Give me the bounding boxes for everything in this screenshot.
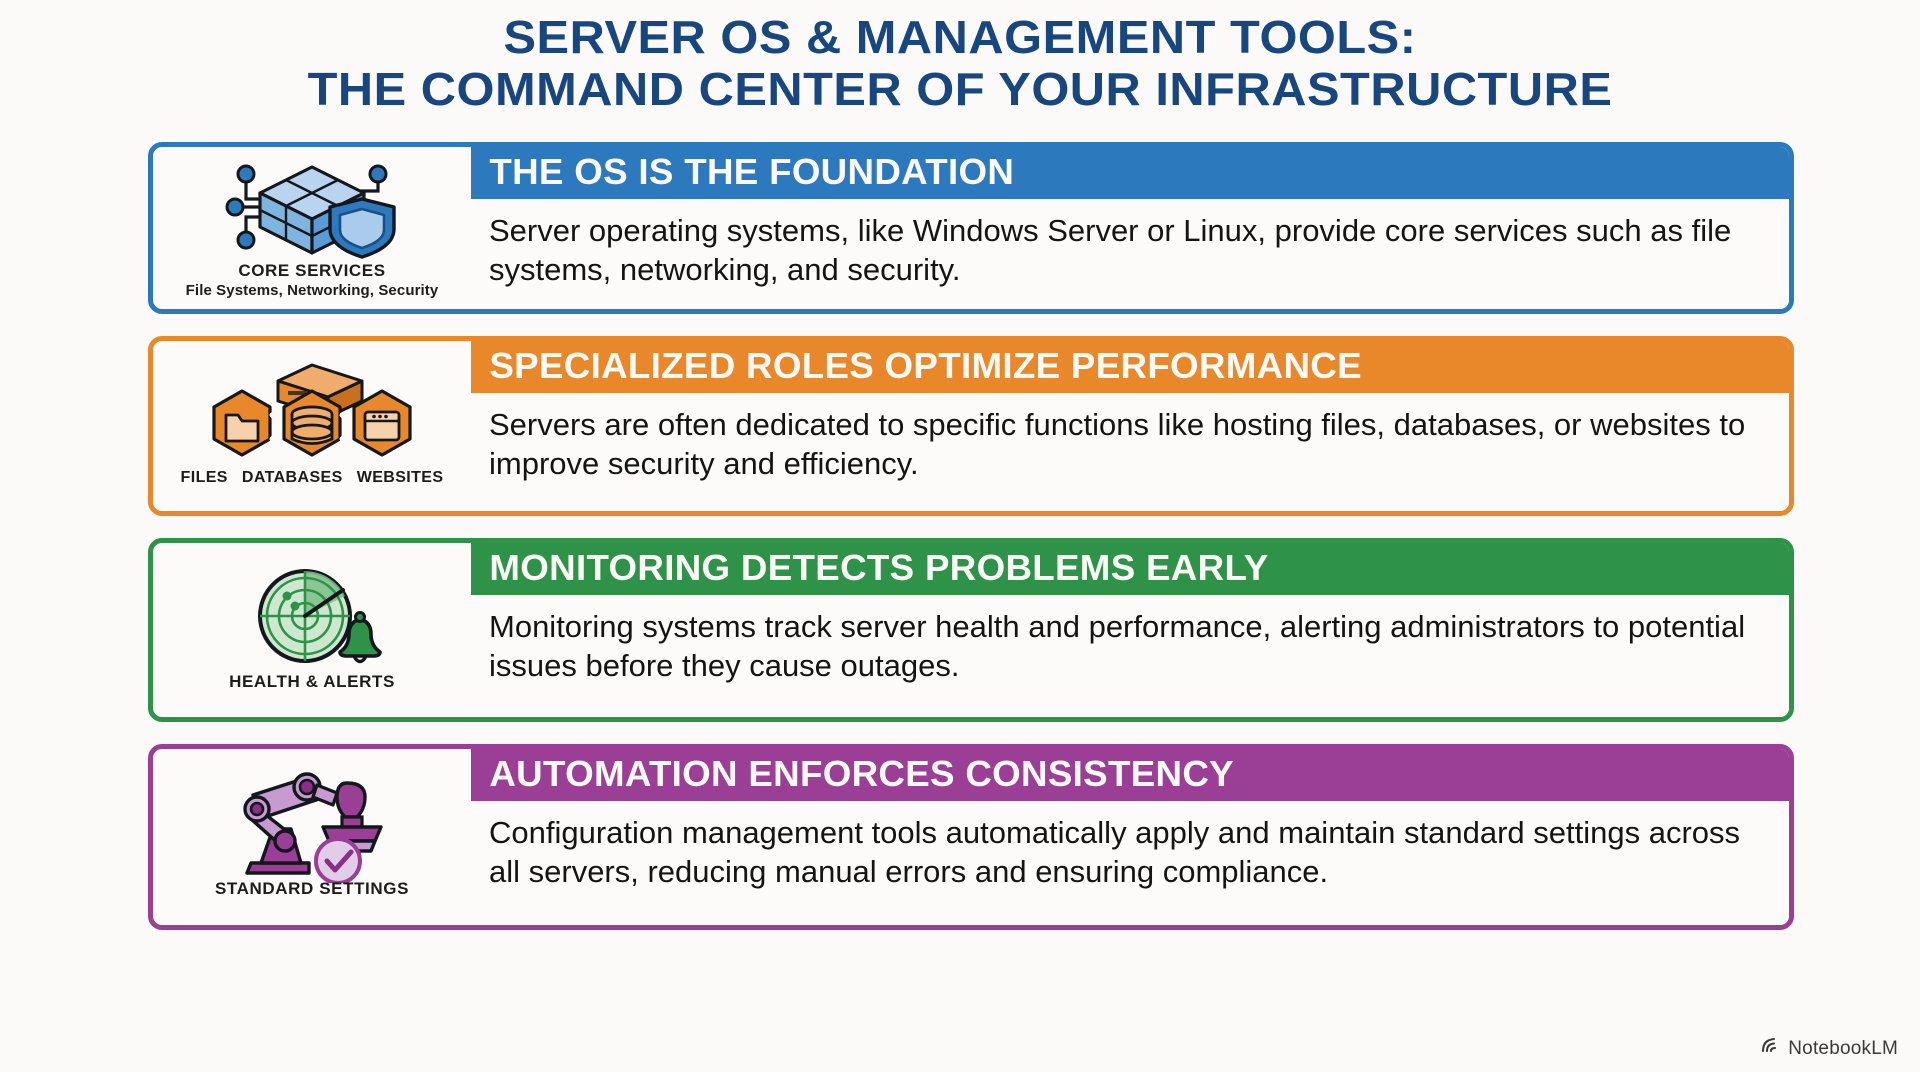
card-list: CORE SERVICES File Systems, Networking, …	[148, 142, 1794, 952]
card-monitoring: HEALTH & ALERTS Monitoring Detects Probl…	[148, 538, 1794, 722]
card-os-foundation: CORE SERVICES File Systems, Networking, …	[148, 142, 1794, 314]
card-header-monitoring: Monitoring Detects Problems Early	[471, 543, 1794, 595]
card-body-specialized-roles: Servers are often dedicated to specific …	[471, 393, 1789, 511]
icon-caption-main: CORE SERVICES	[186, 261, 439, 281]
radar-bell-icon	[227, 566, 397, 670]
watermark: NotebookLM	[1760, 1035, 1898, 1062]
icon-caption-item-websites: WEBSITES	[357, 469, 444, 487]
card-header-os-foundation: The OS is the Foundation	[471, 147, 1794, 199]
server-hexagons-files-databases-websites-icon	[202, 363, 422, 467]
card-body-monitoring: Monitoring systems track server health a…	[471, 595, 1789, 717]
card-body-automation: Configuration management tools automatic…	[471, 801, 1789, 925]
notebooklm-logo-icon	[1760, 1035, 1781, 1062]
card-content-column: Specialized Roles Optimize Performance S…	[471, 341, 1789, 511]
card-header-automation: Automation Enforces Consistency	[471, 749, 1794, 801]
cube-network-shield-icon	[212, 155, 412, 259]
card-icon-column: HEALTH & ALERTS	[153, 543, 471, 717]
page-title-line-2: The Command Center of Your Infrastructur…	[0, 64, 1920, 116]
icon-caption-sub: File Systems, Networking, Security	[186, 282, 439, 299]
card-icon-captions: STANDARD SETTINGS	[215, 879, 409, 899]
card-icon-column: STANDARD SETTINGS	[153, 749, 471, 925]
card-automation: STANDARD SETTINGS Automation Enforces Co…	[148, 744, 1794, 930]
watermark-label: NotebookLM	[1788, 1038, 1898, 1060]
robot-arm-stamp-check-icon	[217, 773, 407, 877]
card-specialized-roles: FILES DATABASES WEBSITES Specialized Rol…	[148, 336, 1794, 516]
icon-caption-item-files: FILES	[181, 469, 228, 487]
icon-caption-main: STANDARD SETTINGS	[215, 879, 409, 899]
card-header-specialized-roles: Specialized Roles Optimize Performance	[471, 341, 1794, 393]
card-icon-captions: FILES DATABASES WEBSITES	[181, 469, 444, 487]
card-icon-captions: CORE SERVICES File Systems, Networking, …	[186, 261, 439, 299]
page-title: Server OS & Management Tools: The Comman…	[0, 0, 1920, 115]
icon-caption-item-databases: DATABASES	[242, 469, 343, 487]
icon-caption-main: HEALTH & ALERTS	[229, 672, 395, 692]
card-icon-column: FILES DATABASES WEBSITES	[153, 341, 471, 511]
card-icon-column: CORE SERVICES File Systems, Networking, …	[153, 147, 471, 309]
icon-caption-items: FILES DATABASES WEBSITES	[181, 469, 444, 487]
card-content-column: Automation Enforces Consistency Configur…	[471, 749, 1789, 925]
card-body-os-foundation: Server operating systems, like Windows S…	[471, 199, 1789, 309]
page-title-line-1: Server OS & Management Tools:	[0, 12, 1920, 64]
card-icon-captions: HEALTH & ALERTS	[229, 672, 395, 692]
card-content-column: The OS is the Foundation Server operatin…	[471, 147, 1789, 309]
card-content-column: Monitoring Detects Problems Early Monito…	[471, 543, 1789, 717]
